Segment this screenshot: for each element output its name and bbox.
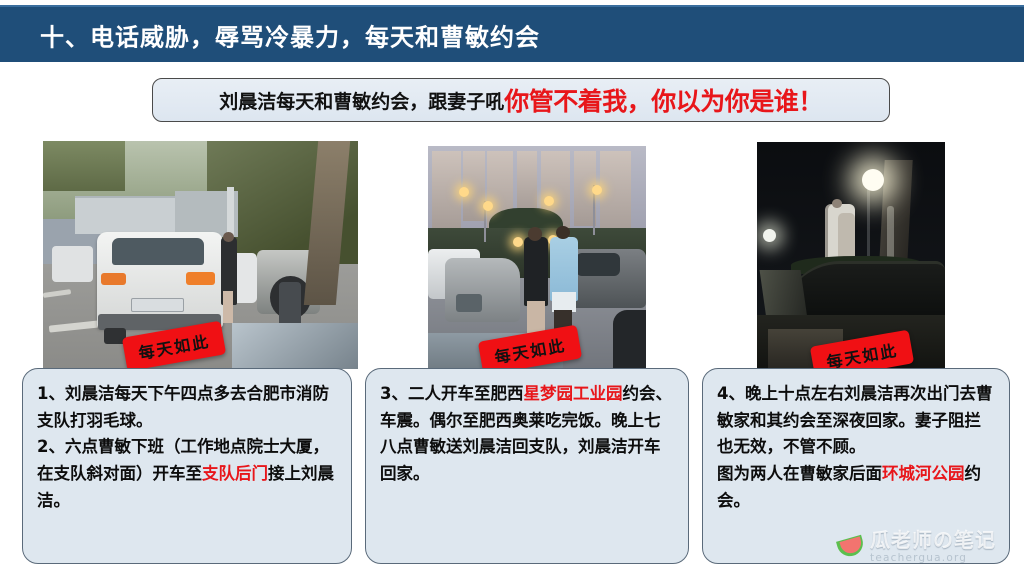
apartment-tower-2 [463, 151, 485, 222]
street-lamp-light-2 [483, 201, 493, 211]
apartment-tower-4 [517, 151, 537, 215]
suv-taillight-right [186, 272, 214, 285]
street-lamp-light-4 [592, 185, 602, 195]
street-lamp-light-1 [459, 187, 469, 197]
card-paragraph: 2、六点曹敏下班（工作地点院士大厦，在支队斜对面）开车至支队后门接上刘晨洁。 [37, 434, 337, 514]
photo-park-night [757, 142, 945, 370]
subtitle-black-text: 刘晨洁每天和曹敏约会，跟妻子吼 [219, 87, 504, 114]
card-3-body: 4、晚上十点左右刘晨洁再次出门去曹敏家和其约会至深夜回家。妻子阻拦也无效，不管不… [717, 381, 995, 515]
highlighted-text: 星梦园工业园 [523, 384, 622, 403]
card-paragraph: 3、二人开车至肥西星梦园工业园约会、车震。偶尔至肥西奥莱吃完饭。晚上七八点曹敏送… [380, 381, 674, 488]
street-lamp-light-3 [544, 196, 554, 206]
highlighted-text: 环城河公园 [882, 464, 965, 483]
page-title: 十、电话威胁，辱骂冷暴力，每天和曹敏约会 [40, 17, 540, 52]
parked-car-far [52, 246, 93, 282]
subtitle-banner: 刘晨洁每天和曹敏约会，跟妻子吼 你管不着我，你以为你是谁！ [152, 78, 890, 122]
silver-sedan [445, 258, 519, 322]
foreground-pillar [613, 310, 646, 374]
apartment-tower-1 [432, 151, 460, 233]
man-black-shirt-head [528, 227, 542, 241]
suv-taillight-left [101, 273, 126, 284]
body-text: 1、刘晨洁每天下午四点多去合肥市消防支队打羽毛球。 [37, 384, 329, 430]
card-paragraph: 图为两人在曹敏家后面环城河公园约会。 [717, 461, 995, 514]
slide-root: 十、电话威胁，辱骂冷暴力，每天和曹敏约会 刘晨洁每天和曹敏约会，跟妻子吼 你管不… [0, 0, 1024, 576]
man-blue-shirt-head [556, 226, 570, 240]
body-text: 3、二人开车至肥西 [380, 384, 523, 403]
distant-light [763, 229, 776, 242]
suv-rear-window [112, 238, 203, 265]
sedan-grille [456, 294, 482, 312]
text-card-2: 3、二人开车至肥西星梦园工业园约会、车震。偶尔至肥西奥莱吃完饭。晚上七八点曹敏送… [365, 368, 689, 564]
camera-car-hood [232, 323, 358, 369]
card-paragraph: 1、刘晨洁每天下午四点多去合肥市消防支队打羽毛球。 [37, 381, 337, 434]
subtitle-red-text: 你管不着我，你以为你是谁！ [504, 82, 823, 118]
text-card-1: 1、刘晨洁每天下午四点多去合肥市消防支队打羽毛球。2、六点曹敏下班（工作地点院士… [22, 368, 352, 564]
highlighted-text: 支队后门 [202, 464, 268, 483]
card-paragraph: 4、晚上十点左右刘晨洁再次出门去曹敏家和其约会至深夜回家。妻子阻拦也无效，不管不… [717, 381, 995, 461]
body-text: 图为两人在曹敏家后面 [717, 464, 882, 483]
person-standing-legs [223, 291, 232, 323]
card-2-body: 3、二人开车至肥西星梦园工业园约会、车震。偶尔至肥西奥莱吃完饭。晚上七八点曹敏送… [380, 381, 674, 488]
man-black-shirt-body [524, 237, 548, 305]
apartment-tower-7 [600, 151, 631, 240]
photo-3-scene [757, 142, 945, 370]
slide-header-bar: 十、电话威胁，辱骂冷暴力，每天和曹敏约会 [0, 5, 1024, 62]
dark-sedan-window [576, 253, 620, 276]
text-card-3: 4、晚上十点左右刘晨洁再次出门去曹敏家和其约会至深夜回家。妻子阻拦也无效，不管不… [702, 368, 1010, 564]
suv-license-plate [131, 298, 183, 311]
tree-foliage-left [43, 141, 125, 191]
park-lamp-post [867, 188, 870, 256]
couple-figure-head [832, 199, 841, 208]
card-1-body: 1、刘晨洁每天下午四点多去合肥市消防支队打羽毛球。2、六点曹敏下班（工作地点院士… [37, 381, 337, 515]
body-text: 4、晚上十点左右刘晨洁再次出门去曹敏家和其约会至深夜回家。妻子阻拦也无效，不管不… [717, 384, 992, 456]
